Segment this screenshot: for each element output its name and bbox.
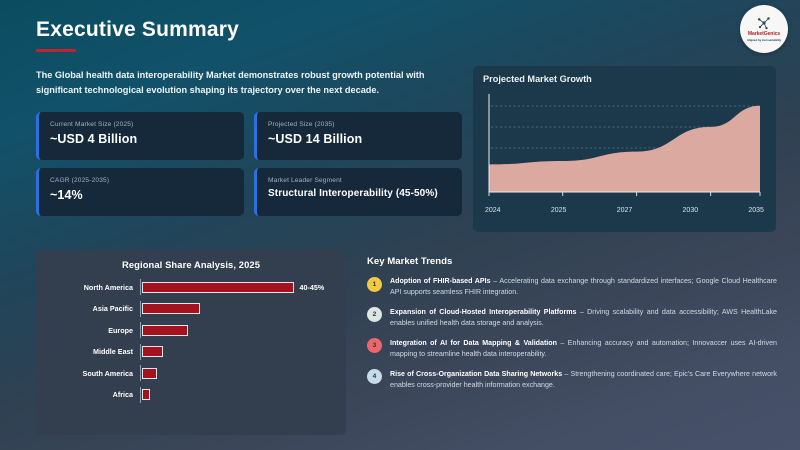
growth-chart-svg [483,88,766,204]
kpi-card-cagr: CAGR (2025-2035) ~14% [36,168,244,216]
bar-fill [142,282,294,293]
trends-title: Key Market Trends [367,256,777,267]
bar-row: Asia Pacific [48,301,334,317]
bar-track [140,344,334,360]
kpi-label: Projected Size (2035) [268,121,451,128]
kpi-value: ~USD 4 Billion [50,132,233,146]
bar-fill [142,325,188,336]
growth-x-tick-label: 2025 [551,207,567,214]
growth-x-axis-labels: 20242025202720302035 [483,207,766,214]
trend-headline: Adoption of FHIR-based APIs [390,277,491,285]
bar-category-label: Africa [48,390,140,399]
growth-area-fill [489,106,760,192]
regional-bar-chart: North America40-45%Asia PacificEuropeMid… [48,279,334,403]
trend-headline: Integration of AI for Data Mapping & Val… [390,339,557,347]
company-logo: MarketGenics Aligned by Accountability [740,5,788,53]
bar-fill [142,303,200,314]
bar-track [140,387,334,403]
kpi-card-current-market-size: Current Market Size (2025) ~USD 4 Billio… [36,112,244,160]
bar-category-label: North America [48,283,140,292]
trends-list: 1Adoption of FHIR-based APIs – Accelerat… [367,276,777,391]
trend-item: 2Expansion of Cloud-Hosted Interoperabil… [367,307,777,329]
growth-chart-title: Projected Market Growth [483,74,766,84]
bar-row: Middle East [48,344,334,360]
trend-number-badge: 3 [367,338,382,353]
bar-row: Africa [48,387,334,403]
trend-headline: Expansion of Cloud-Hosted Interoperabili… [390,308,576,316]
trend-text: Expansion of Cloud-Hosted Interoperabili… [390,307,777,329]
key-market-trends-section: Key Market Trends 1Adoption of FHIR-base… [367,256,777,400]
page-title: Executive Summary [36,18,239,42]
page-subtitle: The Global health data interoperability … [36,68,456,98]
kpi-card-projected-size: Projected Size (2035) ~USD 14 Billion [254,112,462,160]
trend-number-badge: 2 [367,307,382,322]
regional-chart-title: Regional Share Analysis, 2025 [48,259,334,270]
bar-category-label: South America [48,369,140,378]
bar-fill [142,346,163,357]
bar-row: South America [48,365,334,381]
bar-track [140,365,334,381]
logo-tagline: Aligned by Accountability [747,38,781,42]
kpi-value: ~14% [50,188,233,202]
bar-row: North America40-45% [48,279,334,295]
growth-area-chart [483,88,766,204]
kpi-label: Market Leader Segment [268,177,451,184]
header: Executive Summary [36,18,239,52]
bar-fill [142,368,157,379]
growth-x-tick-label: 2030 [683,207,699,214]
bar-track [140,322,334,338]
trend-text: Integration of AI for Data Mapping & Val… [390,338,777,360]
bar-row: Europe [48,322,334,338]
growth-x-ticks [489,192,760,196]
bar-fill [142,389,150,400]
bar-track [140,301,334,317]
bar-category-label: Middle East [48,347,140,356]
growth-x-tick-label: 2027 [617,207,633,214]
growth-x-tick-label: 2024 [485,207,501,214]
bar-category-label: Europe [48,326,140,335]
trend-item: 3Integration of AI for Data Mapping & Va… [367,338,777,360]
bar-value-label: 40-45% [299,283,324,292]
trend-headline: Rise of Cross-Organization Data Sharing … [390,370,562,378]
trend-number-badge: 1 [367,277,382,292]
kpi-card-market-leader-segment: Market Leader Segment Structural Interop… [254,168,462,216]
bar-category-label: Asia Pacific [48,304,140,313]
network-nodes-icon [756,16,772,30]
kpi-value: ~USD 14 Billion [268,132,451,146]
growth-x-tick-label: 2035 [748,207,764,214]
kpi-label: CAGR (2025-2035) [50,177,233,184]
projected-market-growth-panel: Projected Market Growth 2024202520272030… [473,66,776,232]
kpi-card-grid: Current Market Size (2025) ~USD 4 Billio… [36,112,462,216]
regional-share-panel: Regional Share Analysis, 2025 North Amer… [36,250,346,435]
trend-item: 4Rise of Cross-Organization Data Sharing… [367,369,777,391]
trend-text: Rise of Cross-Organization Data Sharing … [390,369,777,391]
trend-item: 1Adoption of FHIR-based APIs – Accelerat… [367,276,777,298]
trend-number-badge: 4 [367,369,382,384]
logo-company-name: MarketGenics [748,31,780,37]
kpi-value: Structural Interoperability (45-50%) [268,188,451,199]
kpi-label: Current Market Size (2025) [50,121,233,128]
trend-text: Adoption of FHIR-based APIs – Accelerati… [390,276,777,298]
title-underline-accent [36,49,76,52]
bar-track: 40-45% [140,279,334,295]
